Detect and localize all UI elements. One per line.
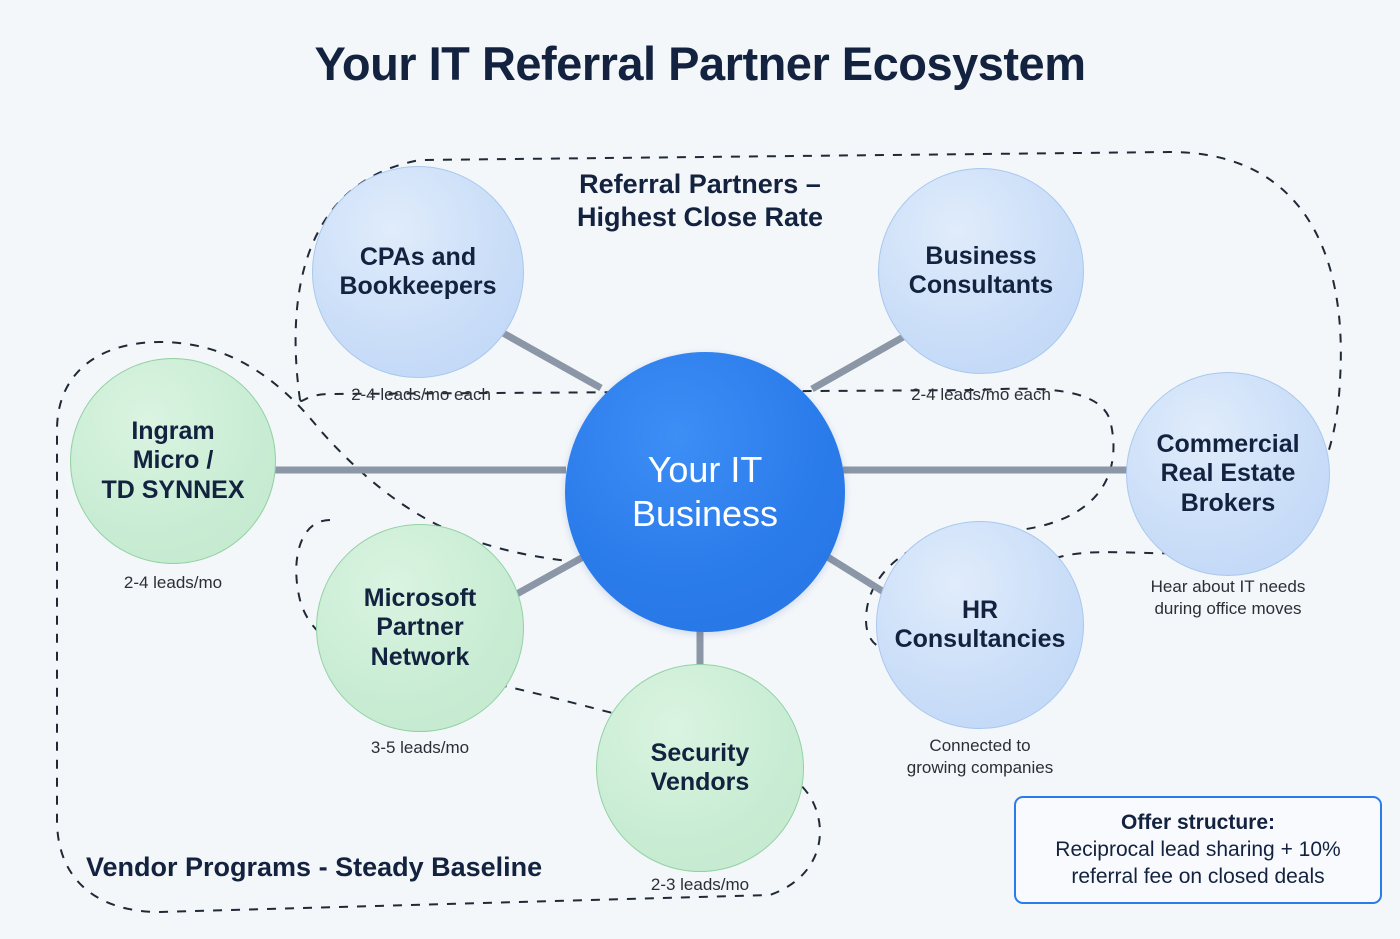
caption-cpas-bookkeepers: 2-4 leads/mo each xyxy=(315,384,527,406)
node-security-vendors-line2: Vendors xyxy=(651,768,750,798)
caption-ingram-micro: 2-4 leads/mo xyxy=(70,572,276,594)
node-ingram-micro-td-synnex[interactable]: Ingram Micro / TD SYNNEX xyxy=(70,358,276,564)
group-label-referral: Referral Partners – Highest Close Rate xyxy=(520,168,880,234)
node-mpn-line3: Network xyxy=(364,643,477,673)
caption-security-vendors: 2-3 leads/mo xyxy=(596,874,804,896)
node-your-it-business-line1: Your IT xyxy=(632,448,778,492)
node-cre-brokers-line3: Brokers xyxy=(1156,489,1299,519)
node-cre-brokers-line1: Commercial xyxy=(1156,430,1299,460)
caption-microsoft-partner-network: 3-5 leads/mo xyxy=(316,737,524,759)
caption-hr-consultancies-line2: growing companies xyxy=(876,757,1084,779)
node-hr-consultancies-line1: HR xyxy=(895,596,1066,626)
node-ingram-micro-line3: TD SYNNEX xyxy=(101,476,244,506)
group-label-referral-line1: Referral Partners – xyxy=(520,168,880,201)
caption-hr-consultancies-line1: Connected to xyxy=(876,735,1084,757)
connector-business-consultants xyxy=(812,336,905,389)
node-security-vendors-line1: Security xyxy=(651,739,750,769)
node-business-consultants[interactable]: Business Consultants xyxy=(878,168,1084,374)
node-cpas-bookkeepers-line1: CPAs and xyxy=(339,243,496,273)
node-your-it-business[interactable]: Your IT Business xyxy=(565,352,845,632)
offer-structure-line1: Reciprocal lead sharing + 10% xyxy=(1055,837,1340,864)
node-mpn-line2: Partner xyxy=(364,613,477,643)
node-hr-consultancies-line2: Consultancies xyxy=(895,625,1066,655)
node-cpas-bookkeepers-line2: Bookkeepers xyxy=(339,272,496,302)
caption-hr-consultancies: Connected to growing companies xyxy=(876,735,1084,779)
node-your-it-business-line2: Business xyxy=(632,492,778,536)
connector-cpas xyxy=(503,333,601,388)
node-mpn-line1: Microsoft xyxy=(364,584,477,614)
offer-structure-line2: referral fee on closed deals xyxy=(1071,864,1324,891)
node-commercial-real-estate-brokers[interactable]: Commercial Real Estate Brokers xyxy=(1126,372,1330,576)
group-label-referral-line2: Highest Close Rate xyxy=(520,201,880,234)
node-cre-brokers-line2: Real Estate xyxy=(1156,459,1299,489)
caption-cre-brokers-line1: Hear about IT needs xyxy=(1126,576,1330,598)
node-business-consultants-line1: Business xyxy=(909,242,1053,272)
node-security-vendors[interactable]: Security Vendors xyxy=(596,664,804,872)
caption-cre-brokers: Hear about IT needs during office moves xyxy=(1126,576,1330,620)
node-cpas-bookkeepers[interactable]: CPAs and Bookkeepers xyxy=(312,166,524,378)
group-label-vendor: Vendor Programs - Steady Baseline xyxy=(86,851,566,884)
node-business-consultants-line2: Consultants xyxy=(909,271,1053,301)
node-microsoft-partner-network[interactable]: Microsoft Partner Network xyxy=(316,524,524,732)
caption-business-consultants: 2-4 leads/mo each xyxy=(878,384,1084,406)
node-hr-consultancies[interactable]: HR Consultancies xyxy=(876,521,1084,729)
node-ingram-micro-line2: Micro / xyxy=(101,446,244,476)
page-title: Your IT Referral Partner Ecosystem xyxy=(0,36,1400,91)
offer-structure-box: Offer structure: Reciprocal lead sharing… xyxy=(1014,796,1382,904)
diagram-canvas: Your IT Referral Partner Ecosystem Refer… xyxy=(0,0,1400,939)
node-ingram-micro-line1: Ingram xyxy=(101,417,244,447)
offer-structure-title: Offer structure: xyxy=(1121,809,1275,836)
caption-cre-brokers-line2: during office moves xyxy=(1126,598,1330,620)
